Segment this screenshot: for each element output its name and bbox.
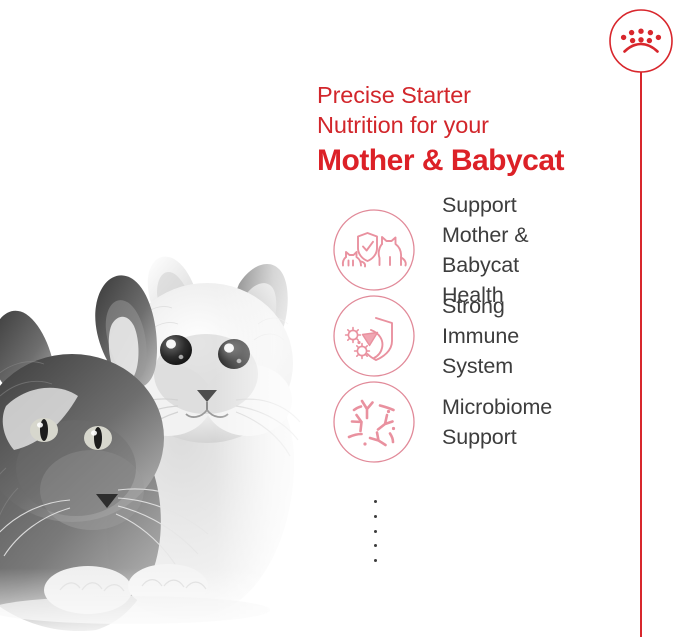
microbiome-bacteria-icon bbox=[332, 380, 416, 464]
promo-banner: Precise Starter Nutrition for your Mothe… bbox=[0, 0, 679, 637]
cat-photo-illustration bbox=[0, 138, 330, 637]
headline-line-1: Precise Starter bbox=[317, 80, 647, 110]
headline: Precise Starter Nutrition for your Mothe… bbox=[317, 80, 647, 179]
shield-arrow-germs-icon bbox=[332, 294, 416, 378]
royal-canin-crown-icon bbox=[608, 8, 674, 74]
cat-and-kitten-photo bbox=[0, 138, 330, 637]
feature-item-microbiome-support: Microbiome Support bbox=[332, 379, 652, 465]
connector-dot bbox=[374, 544, 377, 547]
headline-emphasis: Mother & Babycat bbox=[317, 142, 647, 179]
feature-item-mother-babycat-health: Support Mother & Babycat Health bbox=[332, 207, 652, 293]
connector-dot bbox=[374, 559, 377, 562]
connector-dot bbox=[374, 530, 377, 533]
feature-label: Strong Immune System bbox=[442, 291, 519, 381]
headline-line-2: Nutrition for your bbox=[317, 110, 647, 140]
connector-dot bbox=[374, 500, 377, 503]
feature-label: Microbiome Support bbox=[442, 392, 552, 452]
connector-dots-1 bbox=[373, 500, 377, 562]
shield-check-mother-kitten-icon bbox=[332, 208, 416, 292]
connector-dot bbox=[374, 515, 377, 518]
feature-list: Support Mother & Babycat Health bbox=[332, 207, 652, 465]
feature-item-strong-immune-system: Strong Immune System bbox=[332, 293, 652, 379]
